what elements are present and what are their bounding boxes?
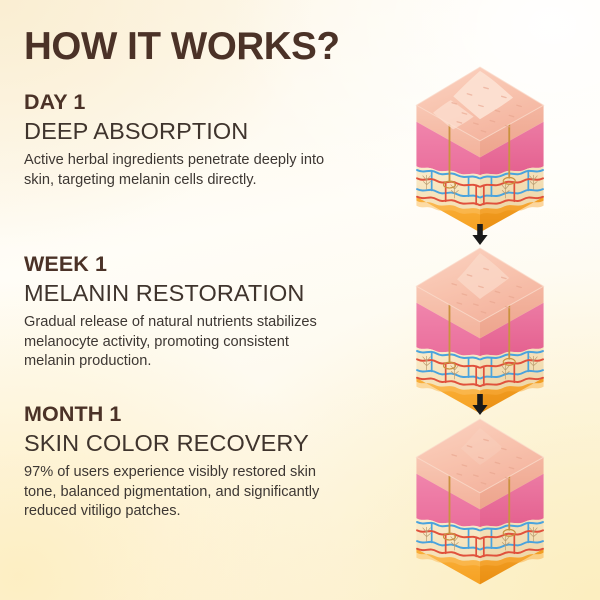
text-column: HOW IT WORKS? DAY 1 DEEP ABSORPTION Acti… (24, 0, 372, 600)
step-headline: MELANIN RESTORATION (24, 280, 354, 308)
skin-cross-section-month-1 (374, 414, 586, 592)
step-headline: SKIN COLOR RECOVERY (24, 430, 354, 458)
step-body: Gradual release of natural nutrients sta… (24, 313, 336, 373)
skin-cross-section-day-1 (374, 62, 586, 240)
down-arrow-icon (470, 394, 490, 416)
illustration-column (360, 0, 600, 600)
step-period: WEEK 1 (24, 252, 354, 276)
step-headline: DEEP ABSORPTION (24, 118, 354, 146)
step-body: Active herbal ingredients penetrate deep… (24, 151, 336, 191)
page-title: HOW IT WORKS? (24, 28, 340, 67)
step-body: 97% of users experience visibly restored… (24, 463, 336, 523)
infographic-poster: HOW IT WORKS? DAY 1 DEEP ABSORPTION Acti… (0, 0, 600, 600)
step-week-1: WEEK 1 MELANIN RESTORATION Gradual relea… (24, 252, 354, 372)
step-day-1: DAY 1 DEEP ABSORPTION Active herbal ingr… (24, 90, 354, 190)
step-period: DAY 1 (24, 90, 354, 114)
step-month-1: MONTH 1 SKIN COLOR RECOVERY 97% of users… (24, 402, 354, 522)
step-period: MONTH 1 (24, 402, 354, 426)
